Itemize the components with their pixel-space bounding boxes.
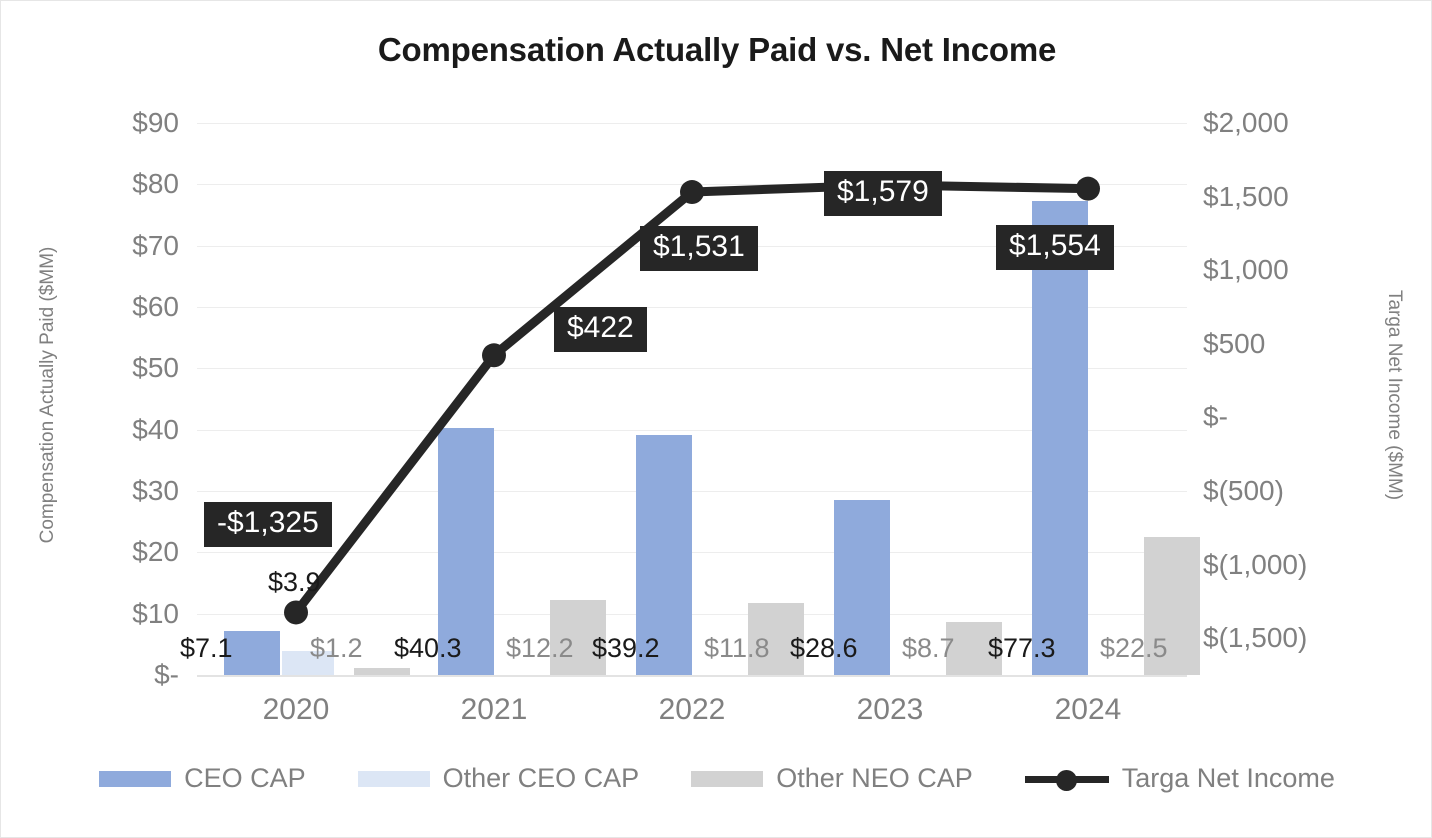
net-income-callout: $1,554 bbox=[996, 225, 1114, 270]
legend-item[interactable]: CEO CAP bbox=[99, 763, 306, 794]
left-axis-tick-label: $70 bbox=[59, 232, 179, 260]
legend-swatch-ceo-icon bbox=[99, 771, 171, 787]
chart-title: Compensation Actually Paid vs. Net Incom… bbox=[1, 31, 1432, 69]
left-axis-tick-label: $80 bbox=[59, 170, 179, 198]
left-axis-tick-label: $20 bbox=[59, 538, 179, 566]
bar-value-label: $7.1 bbox=[180, 635, 233, 662]
bar-value-label: $8.7 bbox=[902, 635, 955, 662]
x-axis-tick-label: 2024 bbox=[988, 693, 1188, 727]
right-axis-tick-label: $(1,000) bbox=[1203, 551, 1373, 579]
bar-value-label: $77.3 bbox=[988, 635, 1056, 662]
plot-area: $7.1$3.9$1.2$40.3$12.2$39.2$11.8$28.6$8.… bbox=[197, 123, 1187, 675]
left-axis-tick-label: $- bbox=[59, 661, 179, 689]
x-axis-tick-label: 2023 bbox=[790, 693, 990, 727]
right-axis-tick-label: $(500) bbox=[1203, 477, 1373, 505]
right-axis-tick-label: $(1,500) bbox=[1203, 624, 1373, 652]
right-axis-tick-label: $2,000 bbox=[1203, 109, 1373, 137]
left-axis-tick-label: $60 bbox=[59, 293, 179, 321]
net-income-marker bbox=[284, 600, 308, 624]
bar-value-label: $1.2 bbox=[310, 635, 363, 662]
net-income-marker bbox=[482, 343, 506, 367]
left-axis-tick-label: $30 bbox=[59, 477, 179, 505]
chart-legend: CEO CAPOther CEO CAPOther NEO CAPTarga N… bbox=[1, 763, 1432, 794]
x-axis-tick-label: 2022 bbox=[592, 693, 792, 727]
legend-item[interactable]: Other CEO CAP bbox=[358, 763, 640, 794]
legend-swatch-neo-icon bbox=[691, 771, 763, 787]
bar-value-label: $22.5 bbox=[1100, 635, 1168, 662]
net-income-callout: $1,579 bbox=[824, 171, 942, 216]
x-axis-tick-label: 2021 bbox=[394, 693, 594, 727]
legend-item[interactable]: Targa Net Income bbox=[1025, 763, 1335, 794]
net-income-callout: -$1,325 bbox=[204, 502, 332, 547]
left-axis-title: Compensation Actually Paid ($MM) bbox=[37, 180, 59, 610]
net-income-marker bbox=[1076, 177, 1100, 201]
left-axis-tick-label: $40 bbox=[59, 416, 179, 444]
bar-value-label: $12.2 bbox=[506, 635, 574, 662]
net-income-callout: $422 bbox=[554, 307, 647, 352]
left-axis-tick-label: $50 bbox=[59, 354, 179, 382]
right-axis-tick-label: $1,000 bbox=[1203, 256, 1373, 284]
legend-item[interactable]: Other NEO CAP bbox=[691, 763, 973, 794]
bar-value-label: $3.9 bbox=[268, 569, 321, 596]
bar-value-label: $28.6 bbox=[790, 635, 858, 662]
legend-label: Other CEO CAP bbox=[443, 763, 640, 794]
net-income-marker bbox=[680, 180, 704, 204]
right-axis-tick-label: $500 bbox=[1203, 330, 1373, 358]
legend-label: Targa Net Income bbox=[1122, 763, 1335, 794]
gridline bbox=[197, 675, 1187, 677]
legend-dot-icon bbox=[1056, 770, 1077, 791]
line-series bbox=[197, 123, 1187, 675]
bar-value-label: $39.2 bbox=[592, 635, 660, 662]
bar-value-label: $40.3 bbox=[394, 635, 462, 662]
bar-value-label: $11.8 bbox=[704, 635, 770, 662]
left-axis-tick-label: $10 bbox=[59, 600, 179, 628]
net-income-callout: $1,531 bbox=[640, 226, 758, 271]
right-axis-tick-label: $- bbox=[1203, 403, 1373, 431]
legend-label: CEO CAP bbox=[184, 763, 306, 794]
right-axis-title: Targa Net Income ($MM) bbox=[1383, 180, 1405, 610]
legend-label: Other NEO CAP bbox=[776, 763, 973, 794]
chart-canvas: Compensation Actually Paid vs. Net Incom… bbox=[0, 0, 1432, 838]
legend-swatch-otherceo-icon bbox=[358, 771, 430, 787]
legend-swatch-line-icon bbox=[1025, 769, 1109, 789]
right-axis-tick-label: $1,500 bbox=[1203, 183, 1373, 211]
x-axis-tick-label: 2020 bbox=[196, 693, 396, 727]
left-axis-tick-label: $90 bbox=[59, 109, 179, 137]
